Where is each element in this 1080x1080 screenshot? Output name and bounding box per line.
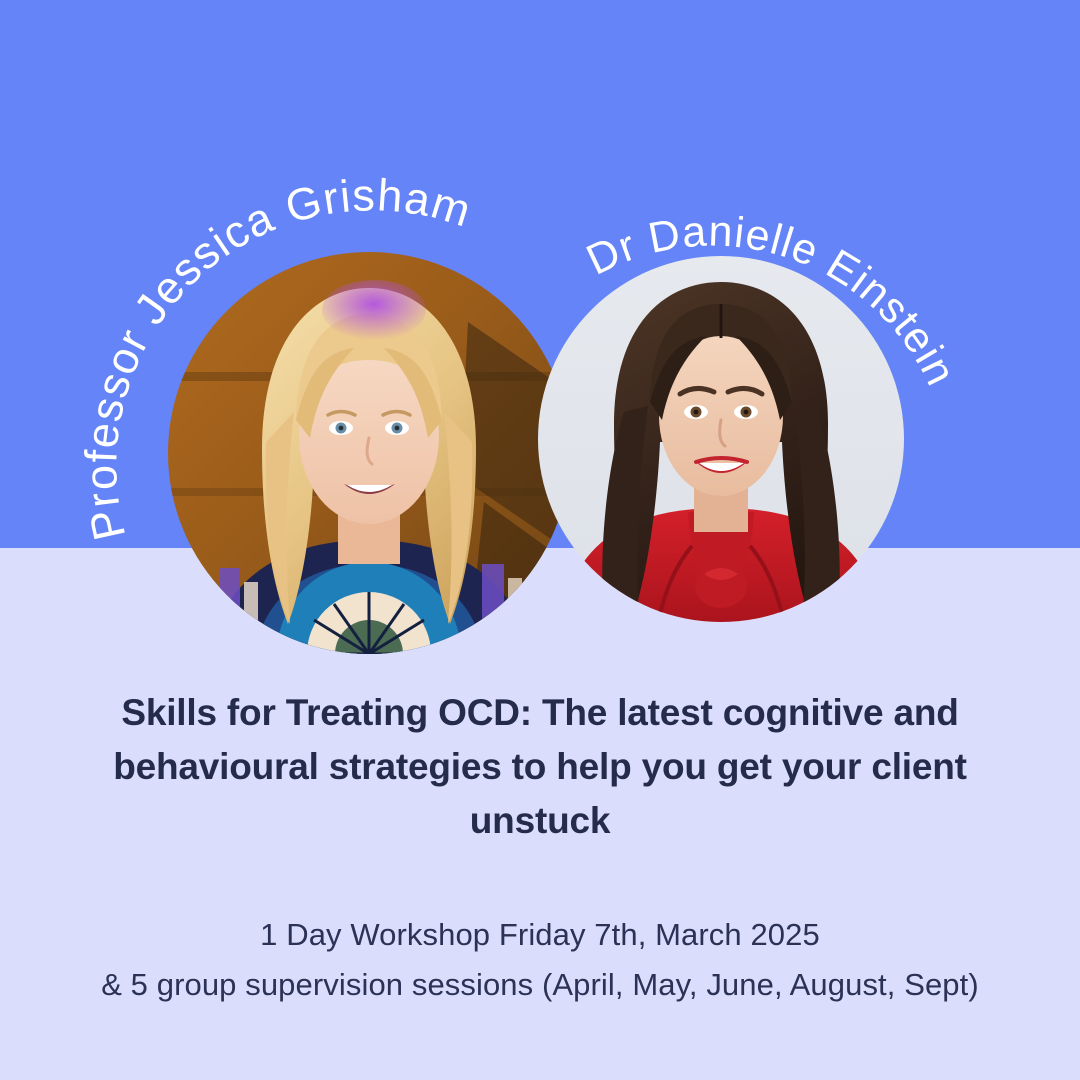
schedule-line-supervision-sessions: & 5 group supervision sessions (April, M… (60, 960, 1020, 1010)
workshop-title-line-1: Skills for Treating OCD: The latest cogn… (121, 692, 958, 733)
workshop-promo-poster: Professor Jessica Grisham Dr Danielle Ei… (0, 0, 1080, 1080)
schedule-line-workshop-date: 1 Day Workshop Friday 7th, March 2025 (60, 910, 1020, 960)
workshop-title-line-3: unstuck (470, 800, 610, 841)
poster-text-block: Skills for Treating OCD: The latest cogn… (0, 686, 1080, 1010)
portrait-jessica-grisham (168, 252, 570, 654)
portrait-danielle-artwork (538, 256, 904, 622)
schedule-details: 1 Day Workshop Friday 7th, March 2025 & … (60, 910, 1020, 1010)
portrait-jessica-artwork (168, 252, 570, 654)
workshop-title-line-2: behavioural strategies to help you get y… (113, 746, 967, 787)
portrait-danielle-einstein (538, 256, 904, 622)
workshop-title: Skills for Treating OCD: The latest cogn… (90, 686, 990, 848)
